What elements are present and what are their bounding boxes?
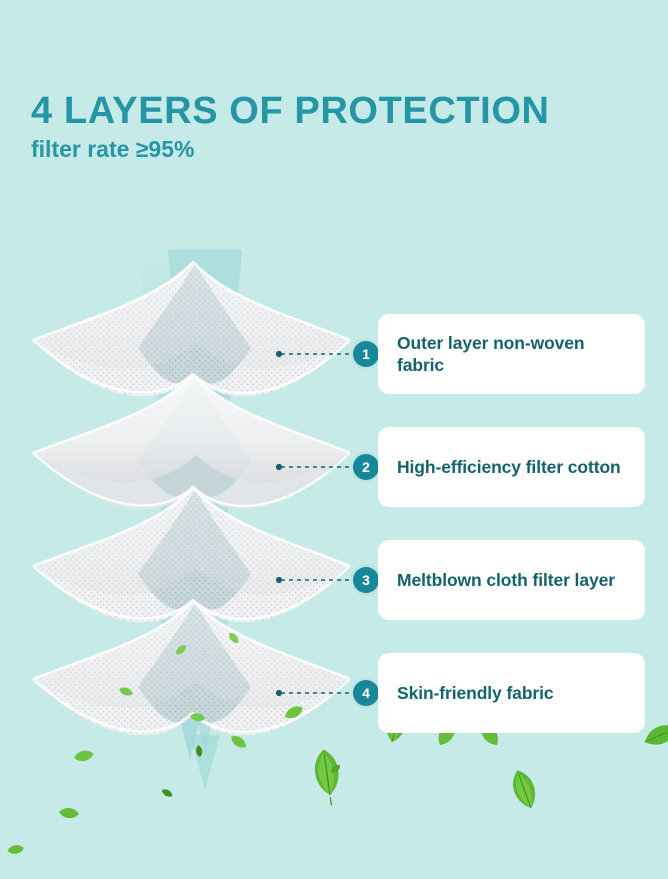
leader-line-dots	[276, 351, 282, 696]
layer-card-4-label: Skin-friendly fabric	[397, 682, 554, 704]
layer-badge-3[interactable]: 3	[353, 567, 379, 593]
leaf	[73, 749, 95, 763]
leaf	[160, 787, 173, 798]
infographic-poster: 4 LAYERS OF PROTECTION filter rate ≥95% …	[0, 0, 668, 879]
layer-card-1[interactable]: Outer layer non-woven fabric	[378, 314, 645, 394]
layer-badge-2[interactable]: 2	[353, 454, 379, 480]
layer-card-3[interactable]: Meltblown cloth filter layer	[378, 540, 645, 620]
layer-card-2[interactable]: High-efficiency filter cotton	[378, 427, 645, 507]
header-block: 4 LAYERS OF PROTECTION filter rate ≥95%	[31, 92, 651, 161]
leaf	[58, 807, 79, 819]
leaf	[641, 720, 668, 750]
layer-card-4[interactable]: Skin-friendly fabric	[378, 653, 645, 733]
airflow-beam-tip	[190, 735, 220, 790]
layer-card-3-label: Meltblown cloth filter layer	[397, 569, 615, 591]
page-title: 4 LAYERS OF PROTECTION	[31, 92, 651, 130]
layer-badge-4[interactable]: 4	[353, 680, 379, 706]
leader-lines	[281, 354, 356, 693]
layer-badge-1[interactable]: 1	[353, 341, 379, 367]
leaf	[508, 767, 541, 812]
leaf	[7, 844, 25, 855]
page-subtitle: filter rate ≥95%	[31, 138, 651, 161]
layer-card-1-label: Outer layer non-woven fabric	[397, 332, 629, 376]
leaf	[229, 733, 249, 751]
layer-card-2-label: High-efficiency filter cotton	[397, 456, 621, 478]
leaf	[312, 748, 343, 807]
